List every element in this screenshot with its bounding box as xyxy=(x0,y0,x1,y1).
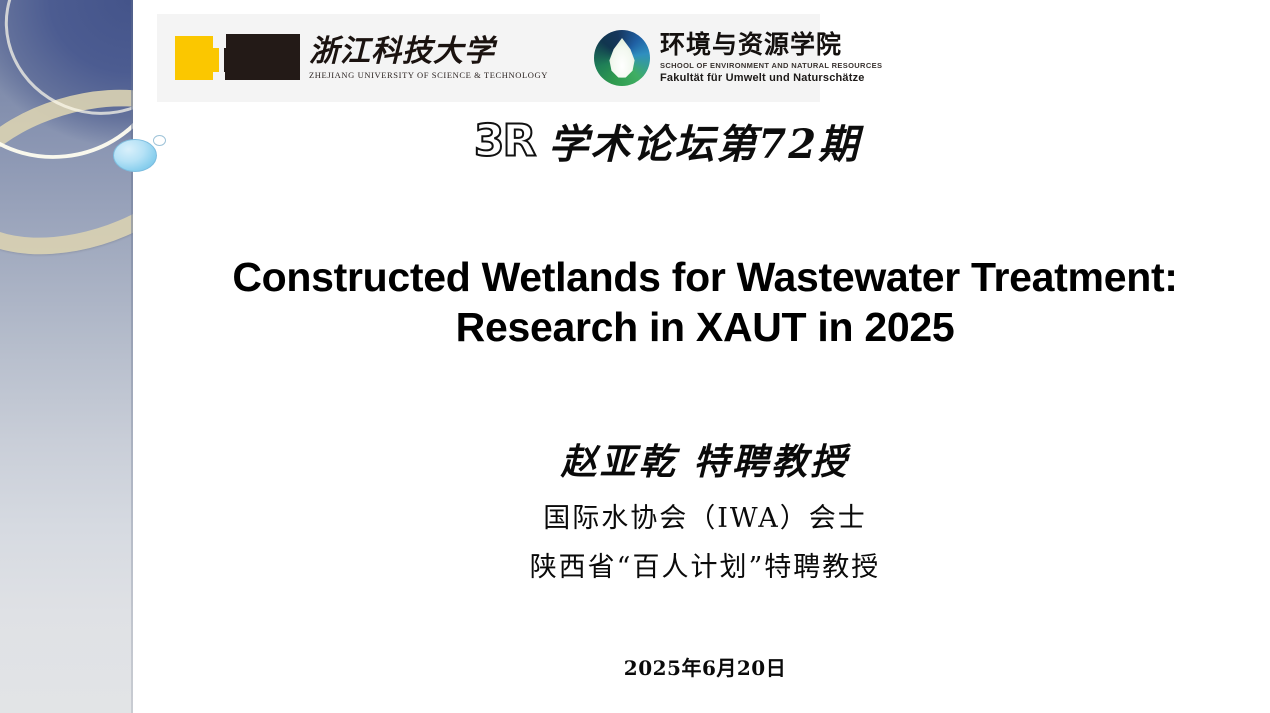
panel-edge-line xyxy=(131,0,133,713)
presentation-date: 2025年6月20日 xyxy=(150,652,1260,681)
speaker-name: 赵亚乾 特聘教授 xyxy=(150,443,1260,483)
school-name-chinese: 环境与资源学院 xyxy=(660,32,882,57)
water-droplet-icon xyxy=(594,30,650,86)
university-logo: 浙江科技大学 ZHEJIANG UNIVERSITY OF SCIENCE & … xyxy=(175,34,548,82)
page-title-line-2: Research in XAUT in 2025 xyxy=(150,302,1260,352)
university-name-english: ZHEJIANG UNIVERSITY OF SCIENCE & TECHNOL… xyxy=(309,71,548,80)
emblem-dark-square xyxy=(224,34,300,80)
university-logo-text: 浙江科技大学 ZHEJIANG UNIVERSITY OF SCIENCE & … xyxy=(309,37,548,80)
decorative-side-panel xyxy=(0,0,133,713)
school-name-german: Fakultät für Umwelt und Naturschätze xyxy=(660,73,882,84)
forum-heading: 3R学术论坛第72期 xyxy=(157,112,1177,170)
school-logo-text: 环境与资源学院 SCHOOL OF ENVIRONMENT AND NATURA… xyxy=(660,32,882,84)
emblem-notch-top xyxy=(213,34,226,48)
emblem-notch-bottom xyxy=(213,72,225,82)
forum-3r-logo-text: 3R xyxy=(474,116,535,167)
university-emblem-icon xyxy=(175,34,300,82)
decorative-small-circle-icon xyxy=(153,135,166,146)
decorative-bubble-icon xyxy=(113,139,157,172)
page-title-line-1: Constructed Wetlands for Wastewater Trea… xyxy=(150,252,1260,302)
page-title: Constructed Wetlands for Wastewater Trea… xyxy=(150,252,1260,352)
forum-title-chinese: 学术论坛第72期 xyxy=(548,121,860,168)
speaker-affiliation-2: 陕西省“百人计划”特聘教授 xyxy=(150,554,1260,581)
speaker-affiliation-1: 国际水协会（IWA）会士 xyxy=(150,505,1260,532)
header-logo-band: 浙江科技大学 ZHEJIANG UNIVERSITY OF SCIENCE & … xyxy=(157,14,820,102)
speaker-block: 赵亚乾 特聘教授 国际水协会（IWA）会士 陕西省“百人计划”特聘教授 xyxy=(150,443,1260,581)
school-logo: 环境与资源学院 SCHOOL OF ENVIRONMENT AND NATURA… xyxy=(594,30,882,86)
title-slide: 浙江科技大学 ZHEJIANG UNIVERSITY OF SCIENCE & … xyxy=(0,0,1270,713)
university-name-chinese: 浙江科技大学 xyxy=(309,37,548,67)
school-name-english: SCHOOL OF ENVIRONMENT AND NATURAL RESOUR… xyxy=(660,62,882,70)
